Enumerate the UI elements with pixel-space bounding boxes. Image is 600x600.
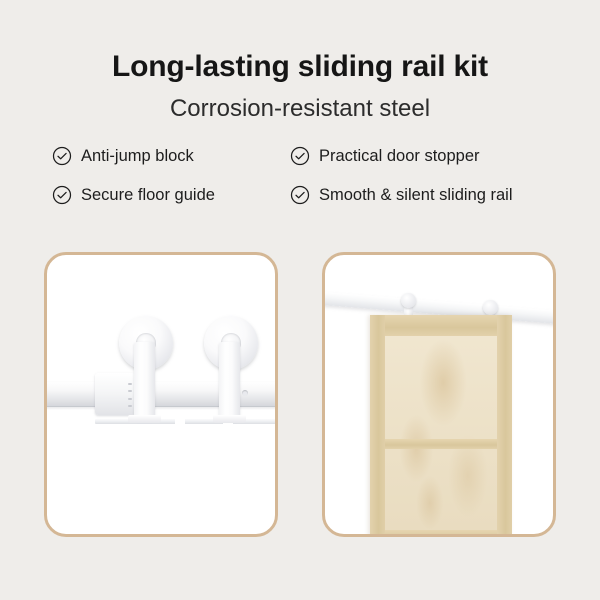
photo-canvas-right: [325, 255, 553, 534]
feature-item-anti-jump-block: Anti-jump block: [52, 146, 290, 166]
door-right-stile: [497, 315, 512, 534]
door-panel-grain: [385, 336, 497, 530]
barn-door-installed-photo: [322, 252, 556, 537]
product-image-panels: [0, 252, 600, 544]
check-circle-icon: [52, 146, 72, 166]
header: Long-lasting sliding rail kit Corrosion-…: [0, 0, 600, 124]
feature-label: Practical door stopper: [319, 148, 480, 165]
floor-guide-strip: [95, 419, 275, 424]
hanger-strap: [219, 342, 240, 420]
check-circle-icon: [290, 185, 310, 205]
sliding-rail-bar: [47, 381, 275, 407]
check-circle-icon: [290, 146, 310, 166]
roller-wheel: [483, 300, 498, 315]
check-circle-icon: [52, 185, 72, 205]
hanger-strap-foot: [128, 415, 161, 423]
door-bottom-rail: [370, 530, 512, 534]
sliding-rail-hardware-photo: [44, 252, 278, 537]
page-subtitle: Corrosion-resistant steel: [0, 95, 600, 124]
door-middle-rail: [370, 439, 512, 449]
rail-shadow: [47, 406, 275, 410]
door-left-stile: [370, 315, 385, 534]
feature-item-practical-door-stopper: Practical door stopper: [290, 146, 554, 166]
feature-label: Anti-jump block: [81, 148, 194, 165]
wooden-barn-door: [370, 315, 512, 534]
photo-canvas-left: [47, 255, 275, 534]
stopper-screw-marks: [128, 383, 132, 407]
feature-label: Secure floor guide: [81, 187, 215, 204]
feature-item-secure-floor-guide: Secure floor guide: [52, 185, 290, 205]
hanger-strap-foot: [213, 415, 246, 423]
hanger-strap: [134, 342, 155, 420]
page-title: Long-lasting sliding rail kit: [0, 50, 600, 83]
feature-item-smooth-silent-sliding-rail: Smooth & silent sliding rail: [290, 185, 554, 205]
rail-mounting-hole: [242, 390, 248, 396]
feature-label: Smooth & silent sliding rail: [319, 187, 513, 204]
roller-wheel: [401, 293, 416, 308]
feature-list: Anti-jump block Practical door stopper S…: [0, 146, 600, 205]
guide-strip-gap: [175, 419, 185, 424]
door-top-rail: [370, 315, 512, 336]
